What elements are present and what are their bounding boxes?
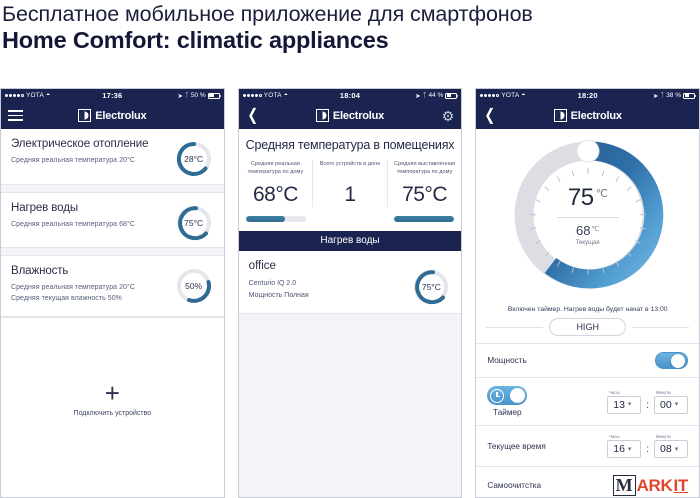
current-hours-caption: Часы bbox=[609, 434, 619, 439]
stat-caption: Средняя реальная температура по дому bbox=[242, 160, 310, 177]
dial-current-caption: Текущая bbox=[576, 240, 600, 246]
battery-percent-label: 38 % bbox=[666, 92, 681, 99]
power-toggle[interactable] bbox=[655, 352, 688, 369]
empty-area bbox=[239, 314, 462, 498]
bluetooth-icon: ᛏ bbox=[185, 92, 189, 99]
chevron-down-icon: ▾ bbox=[628, 446, 632, 453]
gauge-ring: 75°C bbox=[175, 204, 213, 242]
timer-hours-caption: Часы bbox=[609, 390, 619, 395]
markit-watermark: MARKIT bbox=[613, 475, 688, 496]
poster-root: Бесплатное мобильное приложение для смар… bbox=[0, 0, 700, 498]
temperature-dial[interactable]: 75 ℃ 68 ℃ Текущая bbox=[510, 137, 666, 293]
heater-detail-panel: 75 ℃ 68 ℃ Текущая Включен таймер. На bbox=[476, 129, 699, 498]
stat-value: 68°C bbox=[253, 183, 298, 207]
progress-bar bbox=[246, 216, 306, 222]
status-bar: YOTA ◓ 18:20 ➤ ᛏ 38 % bbox=[476, 89, 699, 102]
mode-button[interactable]: HIGH bbox=[549, 318, 626, 336]
gauge-value: 75°C bbox=[175, 204, 213, 242]
timer-toggle[interactable] bbox=[487, 386, 527, 405]
progress-bar bbox=[394, 216, 454, 222]
brand-name-label: Electrolux bbox=[571, 110, 622, 122]
current-time-controls: Часы 16 ▾ : Минуты 08 ▾ bbox=[607, 434, 688, 458]
headline-block: Бесплатное мобильное приложение для смар… bbox=[0, 0, 700, 54]
time-colon: : bbox=[646, 400, 649, 414]
stat-cell: Средняя выставленная температура по дому… bbox=[387, 160, 462, 207]
dial-current-temp: 68 ℃ bbox=[576, 223, 599, 238]
stat-caption: Средняя выставленная температура по дому bbox=[391, 160, 459, 177]
current-minutes-caption: Минуты bbox=[656, 434, 671, 439]
gauge-value: 28°C bbox=[175, 140, 213, 178]
setting-row-selfclean: Самоочитстка MARKIT bbox=[476, 466, 699, 498]
dial-current-unit: ℃ bbox=[591, 225, 599, 233]
gear-icon[interactable]: ⚙ bbox=[442, 109, 455, 123]
timer-minutes-field[interactable]: Минуты 00 ▾ bbox=[654, 390, 688, 414]
current-minutes-field[interactable]: Минуты 08 ▾ bbox=[654, 434, 688, 458]
list-item[interactable]: office Centurio IQ 2.0 Мощность Полная 7… bbox=[239, 251, 462, 314]
chevron-down-icon: ▾ bbox=[675, 401, 679, 408]
setting-label: Мощность bbox=[487, 356, 526, 365]
timer-hours-field[interactable]: Часы 13 ▾ bbox=[607, 390, 641, 414]
phone-screen-home-list: YOTA ◓ 17:36 ➤ ᛏ 50 % bbox=[0, 88, 225, 498]
list-item[interactable]: Влажность Средняя реальная температура 2… bbox=[1, 255, 224, 317]
battery-percent-label: 50 % bbox=[191, 92, 206, 99]
timer-minutes-value: 00 bbox=[660, 399, 672, 411]
status-bar: YOTA ◓ 17:36 ➤ ᛏ 50 % bbox=[1, 89, 224, 102]
stat-bar-cell bbox=[239, 216, 313, 222]
hamburger-icon[interactable] bbox=[8, 110, 23, 121]
battery-icon bbox=[683, 93, 695, 99]
list-item[interactable]: Электрическое отопление Средняя реальная… bbox=[1, 129, 224, 185]
battery-percent-label: 44 % bbox=[429, 92, 444, 99]
brand-logo: Electrolux bbox=[239, 109, 462, 122]
timer-minutes-caption: Минуты bbox=[656, 390, 671, 395]
headline-line-1: Бесплатное мобильное приложение для смар… bbox=[2, 2, 700, 26]
watermark-it: IT bbox=[674, 476, 689, 496]
gauge-ring: 50% bbox=[175, 267, 213, 305]
status-bar-right: ➤ ᛏ 44 % bbox=[415, 92, 457, 100]
setting-label: Таймер bbox=[493, 408, 522, 417]
current-hours-field[interactable]: Часы 16 ▾ bbox=[607, 434, 641, 458]
current-minutes-value: 08 bbox=[660, 443, 672, 455]
timer-note: Включен таймер. Нагрев воды будет начат … bbox=[476, 301, 699, 318]
setting-row-power: Мощность bbox=[476, 343, 699, 377]
timer-time-controls: Часы 13 ▾ : Минуты 00 ▾ bbox=[607, 390, 688, 414]
gauge-value: 50% bbox=[175, 267, 213, 305]
mode-selector-row: HIGH bbox=[476, 318, 699, 343]
electrolux-mark-icon bbox=[316, 109, 329, 122]
setting-label: Текущее время bbox=[487, 442, 545, 451]
temperature-dial-area: 75 ℃ 68 ℃ Текущая bbox=[476, 129, 699, 301]
brand-name-label: Electrolux bbox=[95, 110, 146, 122]
average-temp-panel: Средняя температура в помещениях Средняя… bbox=[239, 129, 462, 497]
dial-target-unit: ℃ bbox=[596, 187, 608, 200]
app-nav-bar: Electrolux bbox=[1, 102, 224, 129]
stat-caption: Всего устройств в доне bbox=[320, 160, 381, 177]
status-bar: YOTA ◓ 18:04 ➤ ᛏ 44 % bbox=[239, 89, 462, 102]
divider bbox=[486, 327, 543, 328]
gauge-ring: 28°C bbox=[175, 140, 213, 178]
brand-logo: Electrolux bbox=[1, 109, 224, 122]
nav-right-slot: ⚙ bbox=[432, 109, 454, 123]
setting-row-current-time: Текущее время Часы 16 ▾ : Минуты bbox=[476, 425, 699, 466]
stats-row: Средняя реальная температура по дому 68°… bbox=[239, 160, 462, 207]
gauge-value: 75°C bbox=[412, 268, 450, 306]
back-chevron-icon[interactable]: ❮ bbox=[247, 108, 258, 124]
section-header: Нагрев воды bbox=[239, 231, 462, 251]
app-nav-bar: ❮ Electrolux bbox=[476, 102, 699, 129]
phone-screenshots-row: YOTA ◓ 17:36 ➤ ᛏ 50 % bbox=[0, 88, 700, 498]
bluetooth-icon: ᛏ bbox=[423, 92, 427, 99]
stat-value: 75°C bbox=[402, 183, 447, 207]
dial-target-temp: 75 ℃ bbox=[568, 184, 608, 212]
location-arrow-icon: ➤ bbox=[653, 92, 658, 100]
add-device-label: Подключить устройство bbox=[74, 410, 152, 417]
list-item[interactable]: Нагрев воды Средняя реальная температура… bbox=[1, 192, 224, 248]
device-list: Электрическое отопление Средняя реальная… bbox=[1, 129, 224, 497]
app-nav-bar: ❮ Electrolux ⚙ bbox=[239, 102, 462, 129]
status-bar-right: ➤ ᛏ 38 % bbox=[653, 92, 695, 100]
page-title: Средняя температура в помещениях bbox=[239, 129, 462, 160]
setting-control bbox=[655, 352, 688, 369]
plus-icon: + bbox=[105, 380, 120, 406]
location-arrow-icon: ➤ bbox=[415, 92, 420, 100]
electrolux-mark-icon bbox=[554, 109, 567, 122]
back-chevron-icon[interactable]: ❮ bbox=[485, 108, 496, 124]
gauge-ring: 75°C bbox=[412, 268, 450, 306]
phone-screen-average-temp: YOTA ◓ 18:04 ➤ ᛏ 44 % ❮ bbox=[238, 88, 463, 498]
current-hours-value: 16 bbox=[613, 443, 625, 455]
electrolux-mark-icon bbox=[78, 109, 91, 122]
stat-bar-cell bbox=[313, 216, 387, 222]
stat-value: 1 bbox=[344, 183, 355, 207]
dial-readout: 75 ℃ 68 ℃ Текущая bbox=[510, 137, 666, 293]
timer-hours-value: 13 bbox=[613, 399, 625, 411]
add-device-button[interactable]: + Подключить устройство bbox=[1, 317, 224, 497]
status-bar-right: ➤ ᛏ 50 % bbox=[177, 92, 219, 100]
watermark-ark: ARK bbox=[637, 476, 673, 496]
nav-left-slot bbox=[8, 110, 30, 121]
bluetooth-icon: ᛏ bbox=[660, 92, 664, 99]
nav-left-slot: ❮ bbox=[246, 108, 268, 124]
time-colon: : bbox=[646, 444, 649, 458]
dial-current-value: 68 bbox=[576, 223, 590, 238]
chevron-down-icon: ▾ bbox=[628, 401, 632, 408]
nav-left-slot: ❮ bbox=[483, 108, 505, 124]
setting-row-timer: Таймер Часы 13 ▾ : Минуты bbox=[476, 377, 699, 425]
brand-logo: Electrolux bbox=[476, 109, 699, 122]
watermark-m: M bbox=[613, 475, 636, 496]
stat-bars-row bbox=[239, 207, 462, 231]
divider bbox=[632, 327, 689, 328]
stat-cell: Всего устройств в доне 1 bbox=[312, 160, 387, 207]
dial-target-value: 75 bbox=[568, 184, 594, 212]
stat-cell: Средняя реальная температура по дому 68°… bbox=[239, 160, 313, 207]
battery-icon bbox=[445, 93, 457, 99]
timer-control: Таймер bbox=[487, 386, 527, 417]
phone-screen-water-heater-detail: YOTA ◓ 18:20 ➤ ᛏ 38 % ❮ bbox=[475, 88, 700, 498]
battery-icon bbox=[208, 93, 220, 99]
setting-label: Самоочитстка bbox=[487, 481, 541, 490]
location-arrow-icon: ➤ bbox=[177, 92, 182, 100]
brand-name-label: Electrolux bbox=[333, 110, 384, 122]
headline-line-2: Home Comfort: climatic appliances bbox=[2, 27, 700, 54]
chevron-down-icon: ▾ bbox=[675, 446, 679, 453]
stat-bar-cell bbox=[387, 216, 461, 222]
divider bbox=[557, 217, 619, 218]
